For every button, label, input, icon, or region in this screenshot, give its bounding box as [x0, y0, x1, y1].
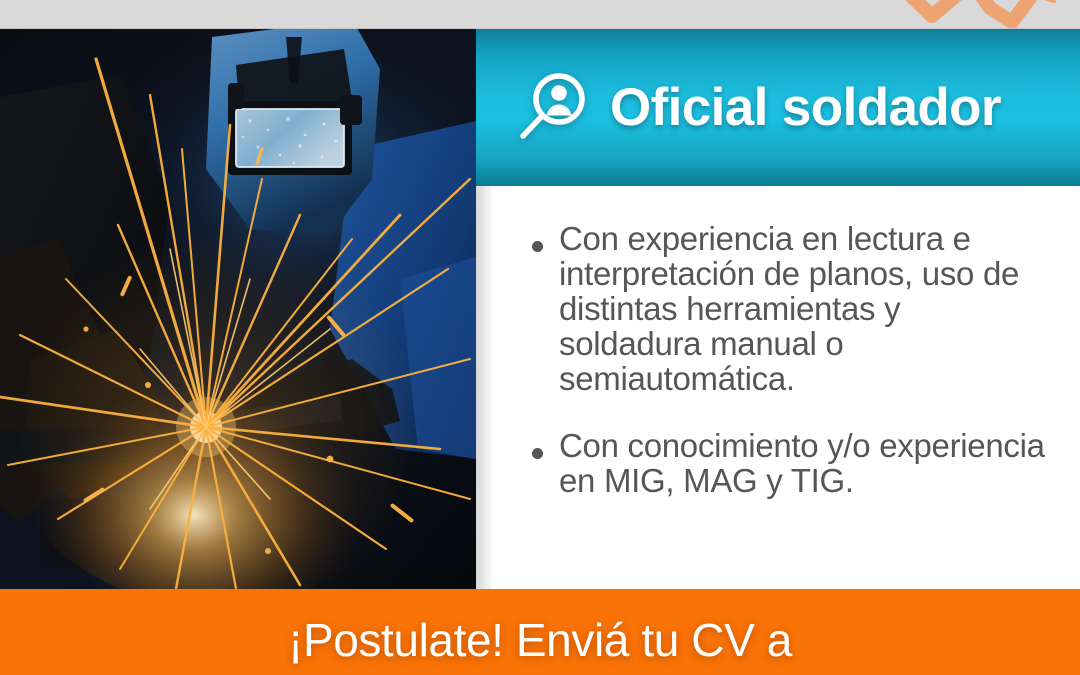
apply-call-to-action: ¡Postulate! Enviá tu CV a [288, 613, 792, 667]
welder-photo [0, 29, 476, 589]
top-bar [0, 0, 1080, 29]
job-title-header: Oficial soldador [476, 29, 1080, 186]
list-item: Con conocimiento y/o experiencia en MIG,… [532, 429, 1046, 499]
requirements-panel: Con experiencia en lectura e interpretac… [476, 186, 1080, 589]
zigzag-line-graphic [886, 0, 1056, 29]
requirement-text: Con conocimiento y/o experiencia en MIG,… [559, 429, 1046, 499]
list-item: Con experiencia en lectura e interpretac… [532, 222, 1046, 397]
photo-vignette [0, 29, 476, 589]
bullet-dot-icon [532, 448, 543, 459]
apply-footer-banner: ¡Postulate! Enviá tu CV a [0, 589, 1080, 675]
requirement-text: Con experiencia en lectura e interpretac… [559, 222, 1046, 397]
job-posting-card: Oficial soldador Con experiencia en lect… [0, 0, 1080, 675]
requirements-list: Con experiencia en lectura e interpretac… [476, 186, 1080, 499]
bullet-dot-icon [532, 241, 543, 252]
page-title: Oficial soldador [610, 77, 1001, 138]
person-search-icon [516, 70, 588, 146]
